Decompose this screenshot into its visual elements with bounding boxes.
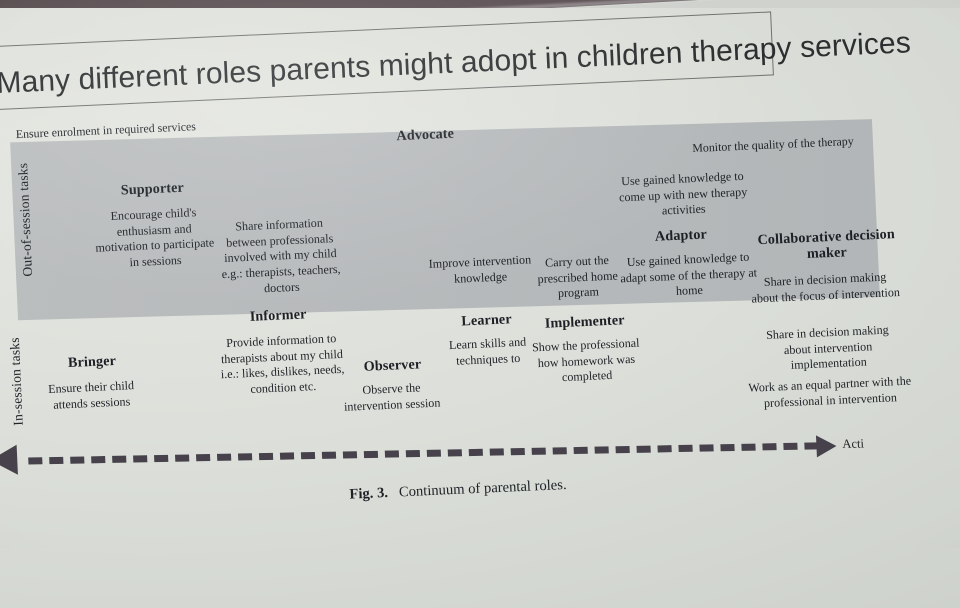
role-supporter-description: Encourage child's enthusiasm and motivat… bbox=[93, 204, 216, 272]
role-collaborative-decision-maker: Collaborative decision maker bbox=[749, 226, 904, 265]
continuum-dashed-line bbox=[28, 442, 818, 464]
role-collaborative-decision-maker-extra: Share in decision making about intervent… bbox=[751, 322, 905, 376]
projection-screen: Many different roles parents might adopt… bbox=[0, 8, 960, 608]
continuum-label-active: Acti bbox=[842, 436, 913, 452]
role-collaborative-decision-maker-description: Share in decision making about the focus… bbox=[749, 269, 902, 307]
role-bringer-description: Ensure their child attends sessions bbox=[35, 378, 148, 414]
role-observer-description: Observe the intervention session bbox=[335, 379, 448, 415]
axis-label-in-session: In-session tasks bbox=[7, 337, 27, 426]
role-implementer-description: Show the professional how homework was c… bbox=[523, 335, 649, 388]
title-box: Many different roles parents might adopt… bbox=[0, 11, 774, 111]
role-adaptor-extra: Use gained knowledge to come up with new… bbox=[610, 168, 756, 222]
role-adaptor-description: Use gained knowledge to adapt some of th… bbox=[614, 249, 764, 303]
arrow-left-icon bbox=[0, 445, 18, 475]
role-learner-extra: Improve intervention knowledge bbox=[428, 252, 533, 288]
role-collaborative-decision-maker-extra2: Work as an equal partner with the profes… bbox=[745, 373, 914, 412]
role-supporter-extra: Share information between professionals … bbox=[214, 215, 347, 299]
role-informer: Informer bbox=[224, 305, 333, 327]
slide-content: Many different roles parents might adopt… bbox=[0, 0, 940, 577]
page-title: Many different roles parents might adopt… bbox=[0, 26, 912, 101]
role-learner: Learner bbox=[440, 310, 533, 331]
arrow-right-icon bbox=[816, 435, 837, 457]
figure-number: Fig. 3. bbox=[349, 485, 388, 503]
role-informer-description: Provide information to therapists about … bbox=[211, 330, 354, 399]
continuum-arrow: ive Acti bbox=[0, 419, 957, 518]
role-implementer: Implementer bbox=[528, 312, 641, 334]
role-bringer: Bringer bbox=[42, 352, 143, 373]
